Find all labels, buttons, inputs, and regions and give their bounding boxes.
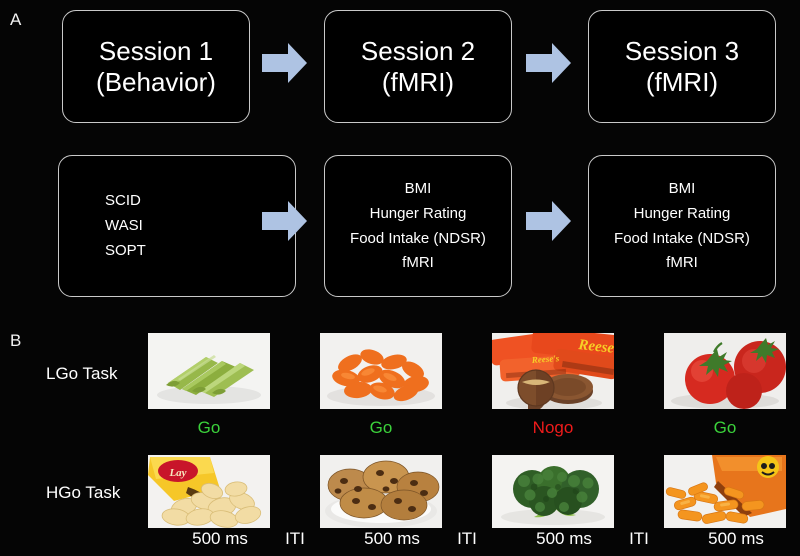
timing-label-1: 500 ms [170, 529, 270, 549]
iti-label-3: ITI [620, 529, 658, 549]
lgo-task-label: LGo Task [46, 364, 118, 384]
cue-label-2: Go [320, 418, 442, 438]
arrow-right-icon-1 [262, 42, 308, 84]
arrow-right-icon-2 [526, 42, 572, 84]
session-1-line1: Session 1 [99, 36, 213, 67]
measure-item: BMI [405, 180, 432, 198]
session-1-line2: (Behavior) [96, 67, 216, 98]
session-2-measures-box: BMI Hunger Rating Food Intake (NDSR) fMR… [324, 155, 512, 297]
measure-item: BMI [669, 180, 696, 198]
stimulus-image-carrots [320, 333, 442, 409]
stimulus-image-cookies [320, 455, 442, 528]
session-2-line2: (fMRI) [382, 67, 454, 98]
session-1-measures-box: SCID WASI SOPT [58, 155, 296, 297]
stimulus-image-tomatoes [664, 333, 786, 409]
stimulus-image-cheese-puffs [664, 455, 786, 528]
stimulus-image-peanut-butter-cups: Reese's Reese's [492, 333, 614, 409]
session-2-box: Session 2 (fMRI) [324, 10, 512, 123]
measure-item: Food Intake (NDSR) [350, 230, 486, 248]
session-3-measures-box: BMI Hunger Rating Food Intake (NDSR) fMR… [588, 155, 776, 297]
iti-label-2: ITI [448, 529, 486, 549]
cue-label-3: Nogo [492, 418, 614, 438]
measure-item: Hunger Rating [370, 205, 467, 223]
measure-item: Hunger Rating [634, 205, 731, 223]
cue-label-1: Go [148, 418, 270, 438]
session-3-box: Session 3 (fMRI) [588, 10, 776, 123]
panel-b-letter: B [10, 331, 22, 351]
session-3-line2: (fMRI) [646, 67, 718, 98]
svg-text:Lay: Lay [168, 467, 186, 479]
stimulus-image-celery [148, 333, 270, 409]
session-2-line1: Session 2 [361, 36, 475, 67]
session-1-box: Session 1 (Behavior) [62, 10, 250, 123]
measure-item: fMRI [402, 254, 434, 272]
hgo-task-label: HGo Task [46, 483, 120, 503]
timing-label-3: 500 ms [514, 529, 614, 549]
panel-a-letter: A [10, 10, 22, 30]
arrow-right-icon-4 [526, 200, 572, 242]
measure-item: SCID [105, 192, 141, 210]
measure-item: fMRI [666, 254, 698, 272]
cue-label-4: Go [664, 418, 786, 438]
timing-label-4: 500 ms [686, 529, 786, 549]
measure-item: SOPT [105, 242, 146, 260]
measure-item: WASI [105, 217, 143, 235]
stimulus-image-potato-chips: Lay [148, 455, 270, 528]
svg-text:Reese's: Reese's [530, 353, 560, 365]
session-3-line1: Session 3 [625, 36, 739, 67]
stimulus-image-broccoli [492, 455, 614, 528]
measure-item: Food Intake (NDSR) [614, 230, 750, 248]
timing-label-2: 500 ms [342, 529, 442, 549]
figure-canvas: A Session 1 (Behavior) Session 2 (fMRI) … [0, 0, 800, 556]
arrow-right-icon-3 [262, 200, 308, 242]
iti-label-1: ITI [276, 529, 314, 549]
